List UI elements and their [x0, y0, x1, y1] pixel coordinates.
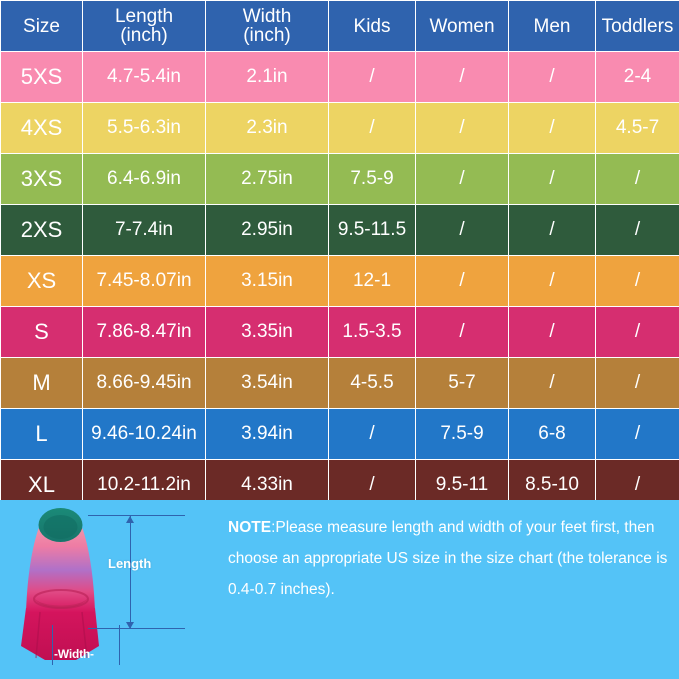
- cell-length: 7.45-8.07in: [83, 256, 206, 307]
- cell-women: /: [416, 52, 509, 103]
- cell-kids: 7.5-9: [329, 154, 416, 205]
- cell-men: /: [509, 205, 596, 256]
- cell-toddlers: /: [596, 409, 679, 460]
- cell-men: /: [509, 307, 596, 358]
- cell-length: 6.4-6.9in: [83, 154, 206, 205]
- table-row: XS7.45-8.07in3.15in12-1///: [1, 256, 679, 307]
- length-arrow-line: [130, 515, 131, 629]
- column-header-size: Size: [1, 1, 83, 52]
- header-main-women: Women: [429, 16, 494, 37]
- cell-women: /: [416, 205, 509, 256]
- column-header-width: Width (inch): [206, 1, 329, 52]
- size-chart-table: Size Length (inch) Width (inch) Kids Wom…: [0, 0, 679, 511]
- cell-width: 2.95in: [206, 205, 329, 256]
- cell-width: 2.1in: [206, 52, 329, 103]
- table-row: L9.46-10.24in3.94in/7.5-96-8/: [1, 409, 679, 460]
- cell-men: /: [509, 256, 596, 307]
- cell-width: 3.54in: [206, 358, 329, 409]
- cell-width: 2.3in: [206, 103, 329, 154]
- note-lead: NOTE: [228, 519, 271, 536]
- width-guide-right: [119, 625, 120, 665]
- cell-kids: /: [329, 52, 416, 103]
- header-main-width: Width: [243, 6, 292, 27]
- header-main-toddlers: Toddlers: [602, 16, 674, 37]
- table-body: 5XS4.7-5.4in2.1in///2-44XS5.5-6.3in2.3in…: [1, 52, 679, 511]
- cell-women: /: [416, 154, 509, 205]
- length-guide-bottom: [88, 628, 185, 629]
- cell-size: S: [1, 307, 83, 358]
- cell-toddlers: /: [596, 256, 679, 307]
- cell-width: 2.75in: [206, 154, 329, 205]
- cell-women: /: [416, 103, 509, 154]
- cell-length: 7-7.4in: [83, 205, 206, 256]
- size-chart-page: Size Length (inch) Width (inch) Kids Wom…: [0, 0, 679, 679]
- cell-kids: 12-1: [329, 256, 416, 307]
- cell-men: 6-8: [509, 409, 596, 460]
- cell-kids: 9.5-11.5: [329, 205, 416, 256]
- header-main-kids: Kids: [354, 16, 391, 37]
- table-row: 2XS7-7.4in2.95in9.5-11.5///: [1, 205, 679, 256]
- swim-fin-icon: [0, 500, 220, 679]
- cell-size: 2XS: [1, 205, 83, 256]
- cell-size: 3XS: [1, 154, 83, 205]
- cell-width: 3.15in: [206, 256, 329, 307]
- cell-length: 7.86-8.47in: [83, 307, 206, 358]
- header-main-length: Length: [115, 6, 173, 27]
- column-header-men: Men: [509, 1, 596, 52]
- length-arrow-head-up: [126, 516, 134, 523]
- cell-size: L: [1, 409, 83, 460]
- note-panel: Length -Width- NOTE:Please measure lengt…: [0, 500, 679, 679]
- column-header-toddlers: Toddlers: [596, 1, 679, 52]
- cell-women: /: [416, 307, 509, 358]
- cell-kids: /: [329, 103, 416, 154]
- header-main-men: Men: [534, 16, 571, 37]
- header-sub-length: (inch): [83, 26, 205, 45]
- cell-women: 5-7: [416, 358, 509, 409]
- table-row: S7.86-8.47in3.35in1.5-3.5///: [1, 307, 679, 358]
- table-row: 5XS4.7-5.4in2.1in///2-4: [1, 52, 679, 103]
- cell-toddlers: /: [596, 358, 679, 409]
- note-body: :Please measure length and width of your…: [228, 519, 667, 598]
- cell-toddlers: 2-4: [596, 52, 679, 103]
- cell-width: 3.35in: [206, 307, 329, 358]
- cell-toddlers: /: [596, 154, 679, 205]
- note-text: NOTE:Please measure length and width of …: [228, 512, 668, 605]
- table-row: M8.66-9.45in3.54in4-5.55-7//: [1, 358, 679, 409]
- length-guide-top: [88, 515, 185, 516]
- cell-width: 3.94in: [206, 409, 329, 460]
- column-header-women: Women: [416, 1, 509, 52]
- table-header: Size Length (inch) Width (inch) Kids Wom…: [1, 1, 679, 52]
- table-row: 3XS6.4-6.9in2.75in7.5-9///: [1, 154, 679, 205]
- cell-men: /: [509, 358, 596, 409]
- header-sub-width: (inch): [206, 26, 328, 45]
- cell-toddlers: 4.5-7: [596, 103, 679, 154]
- fin-illustration: Length -Width-: [0, 500, 220, 679]
- cell-toddlers: /: [596, 205, 679, 256]
- cell-kids: 4-5.5: [329, 358, 416, 409]
- cell-women: /: [416, 256, 509, 307]
- length-label: Length: [108, 556, 151, 571]
- column-header-length: Length (inch): [83, 1, 206, 52]
- cell-size: 5XS: [1, 52, 83, 103]
- header-main-size: Size: [23, 16, 60, 37]
- cell-size: M: [1, 358, 83, 409]
- cell-toddlers: /: [596, 307, 679, 358]
- cell-men: /: [509, 154, 596, 205]
- column-header-kids: Kids: [329, 1, 416, 52]
- cell-kids: /: [329, 409, 416, 460]
- length-arrow-head-down: [126, 622, 134, 629]
- cell-length: 9.46-10.24in: [83, 409, 206, 460]
- cell-length: 5.5-6.3in: [83, 103, 206, 154]
- cell-length: 8.66-9.45in: [83, 358, 206, 409]
- cell-length: 4.7-5.4in: [83, 52, 206, 103]
- table-row: 4XS5.5-6.3in2.3in///4.5-7: [1, 103, 679, 154]
- cell-men: /: [509, 52, 596, 103]
- cell-size: XS: [1, 256, 83, 307]
- cell-kids: 1.5-3.5: [329, 307, 416, 358]
- cell-men: /: [509, 103, 596, 154]
- cell-size: 4XS: [1, 103, 83, 154]
- header-row: Size Length (inch) Width (inch) Kids Wom…: [1, 1, 679, 52]
- cell-women: 7.5-9: [416, 409, 509, 460]
- width-guide-left: [52, 625, 53, 665]
- width-label: -Width-: [54, 647, 94, 661]
